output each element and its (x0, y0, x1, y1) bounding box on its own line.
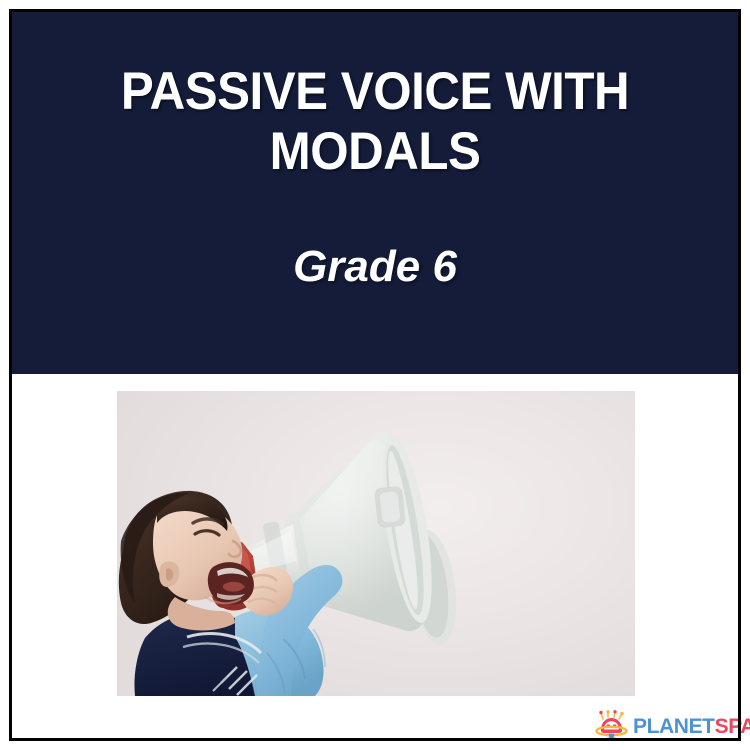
megaphone-photo (117, 391, 635, 696)
brand-name-spark: SPARK (715, 715, 750, 738)
planetspark-robot-icon (595, 710, 629, 742)
title-band: PASSIVE VOICE WITH MODALS Grade 6 (10, 10, 740, 374)
photo-illustration (117, 391, 635, 696)
grade-subtitle: Grade 6 (10, 243, 740, 291)
brand-logo-text: PLANETSPARK (633, 716, 750, 737)
page-title: PASSIVE VOICE WITH MODALS (36, 62, 715, 183)
brand-logo[interactable]: PLANETSPARK (595, 709, 750, 743)
slide-canvas: PASSIVE VOICE WITH MODALS Grade 6 (0, 0, 750, 750)
brand-name-planet: PLANET (633, 715, 715, 738)
